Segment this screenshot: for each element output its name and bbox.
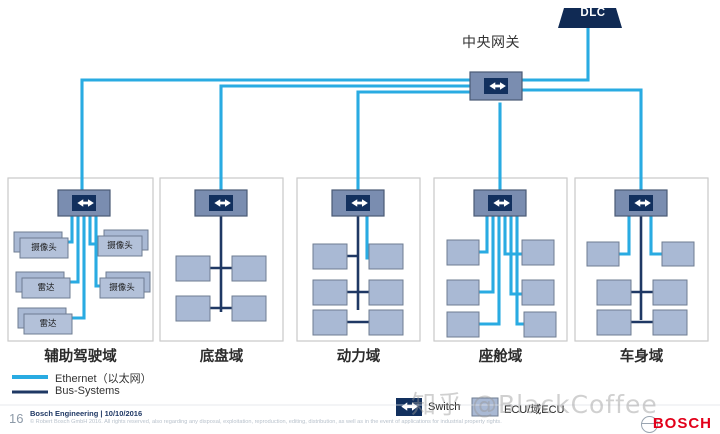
ecu[interactable] <box>597 280 631 305</box>
sensor-label-camera-l1: 摄像头 <box>21 241 67 253</box>
network-diagram <box>0 0 720 434</box>
ecu[interactable] <box>232 296 266 321</box>
bosch-wordmark: BOSCH <box>653 415 712 432</box>
domain-label-cockpit: 座舱域 <box>434 345 567 366</box>
sensor-label-radar-l1: 雷达 <box>23 281 69 293</box>
dlc-label: DLC <box>566 7 620 19</box>
footer-title: Bosch Engineering | 10/10/2016 <box>30 409 142 418</box>
cockpit-switch[interactable] <box>474 190 526 216</box>
legend-bus-label: Bus-Systems <box>55 385 120 397</box>
trunk-dlc <box>522 28 588 80</box>
sensor-label-camera-r2: 摄像头 <box>99 281 145 293</box>
ecu[interactable] <box>524 312 556 337</box>
domain-label-body: 车身域 <box>575 345 708 366</box>
powertrain-switch[interactable] <box>332 190 384 216</box>
ecu[interactable] <box>447 312 479 337</box>
ecu[interactable] <box>653 310 687 335</box>
ecu[interactable] <box>522 280 554 305</box>
ecu[interactable] <box>522 240 554 265</box>
ecu[interactable] <box>597 310 631 335</box>
ecu[interactable] <box>587 242 619 266</box>
backbone-ethernet-links <box>82 28 641 196</box>
central-gateway-label: 中央网关 <box>462 32 520 52</box>
footer-copyright: © Robert Bosch GmbH 2016. All rights res… <box>30 419 690 425</box>
ecu[interactable] <box>662 242 694 266</box>
ecu[interactable] <box>232 256 266 281</box>
legend-ethernet-label: Ethernet（以太网） <box>55 370 152 386</box>
adas-switch[interactable] <box>58 190 110 216</box>
sensor-label-radar-l2: 雷达 <box>25 317 71 329</box>
ecu[interactable] <box>447 280 479 305</box>
ecu[interactable] <box>176 296 210 321</box>
ecu[interactable] <box>369 280 403 305</box>
domain-label-adas: 辅助驾驶域 <box>8 345 153 366</box>
legend-ecu-label: ECU/域ECU <box>504 401 565 417</box>
ecu[interactable] <box>369 244 403 269</box>
sensor-label-camera-r1: 摄像头 <box>97 239 143 251</box>
ecu[interactable] <box>369 310 403 335</box>
domain-label-powertrain: 动力域 <box>297 345 420 366</box>
body-switch[interactable] <box>615 190 667 216</box>
ecu[interactable] <box>313 244 347 269</box>
legend-line-samples <box>12 377 48 392</box>
slide-canvas: 中央网关 DLC 摄像头 雷达 雷达 摄像头 摄像头 辅助驾驶域 底盘域 动力域… <box>0 0 720 434</box>
page-number: 16 <box>9 411 23 426</box>
ecu[interactable] <box>313 280 347 305</box>
ecu[interactable] <box>313 310 347 335</box>
ecu[interactable] <box>653 280 687 305</box>
legend-switch-label: Switch <box>428 401 460 413</box>
legend-switch-swatch <box>396 398 422 416</box>
ecu[interactable] <box>176 256 210 281</box>
central-gateway-switch[interactable] <box>470 72 522 100</box>
legend-ecu-swatch <box>472 398 498 416</box>
domain-label-chassis: 底盘域 <box>160 345 283 366</box>
chassis-switch[interactable] <box>195 190 247 216</box>
ecu[interactable] <box>447 240 479 265</box>
